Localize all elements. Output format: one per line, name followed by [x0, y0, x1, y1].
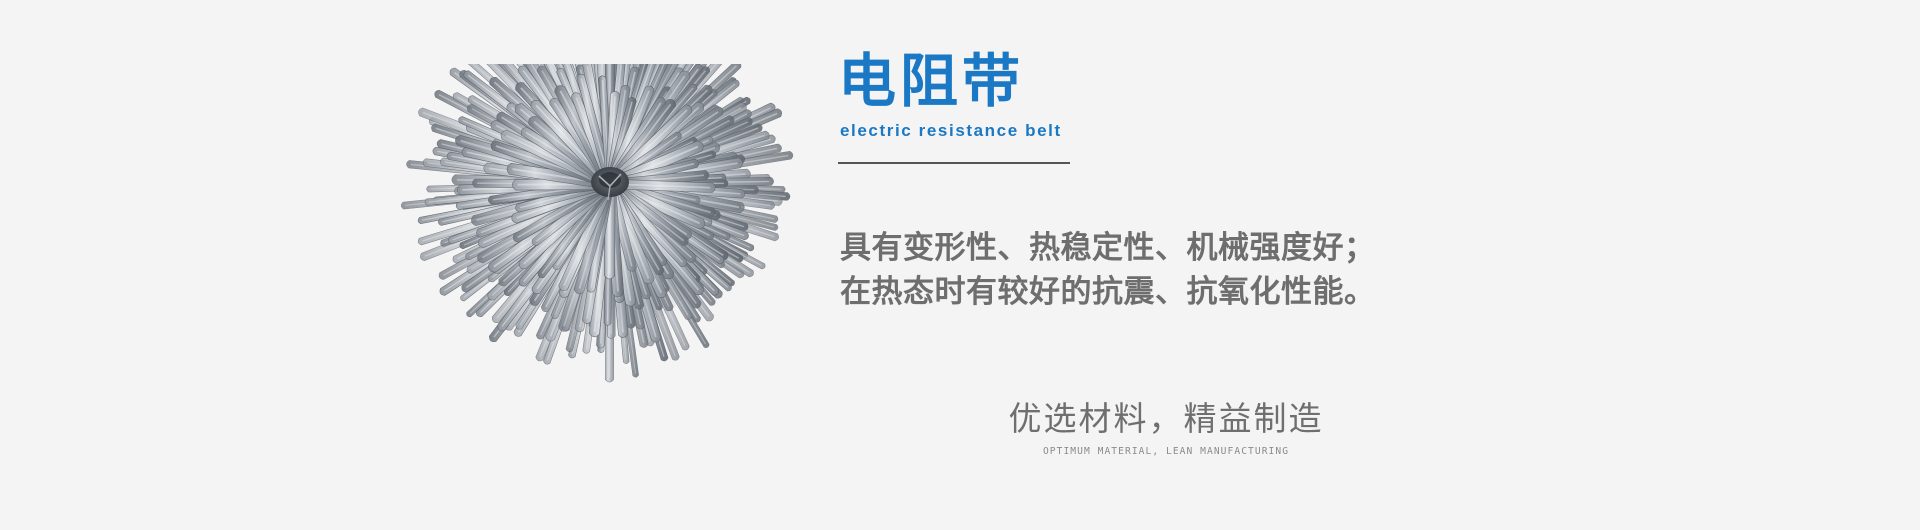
content-column: 电阻带 electric resistance belt 具有变形性、热稳定性、… — [838, 0, 1578, 530]
product-image — [395, 64, 825, 479]
tagline-chinese: 优选材料，精益制造 — [956, 400, 1376, 440]
tagline-english: OPTIMUM MATERIAL, LEAN MANUFACTURING — [964, 445, 1367, 459]
page-title: 电阻带 — [838, 52, 1268, 111]
description-line-1: 具有变形性、热稳定性、机械强度好； — [840, 226, 1460, 270]
tagline-block: 优选材料，精益制造 OPTIMUM MATERIAL, LEAN MANUFAC… — [956, 400, 1376, 459]
title-divider — [838, 162, 1070, 164]
description-block: 具有变形性、热稳定性、机械强度好； 在热态时有较好的抗震、抗氧化性能。 — [840, 226, 1460, 314]
description-line-2: 在热态时有较好的抗震、抗氧化性能。 — [840, 270, 1460, 314]
heading-block: 电阻带 electric resistance belt — [838, 52, 1268, 164]
product-banner: 电阻带 electric resistance belt 具有变形性、热稳定性、… — [0, 0, 1920, 530]
page-subtitle: electric resistance belt — [840, 121, 1268, 141]
